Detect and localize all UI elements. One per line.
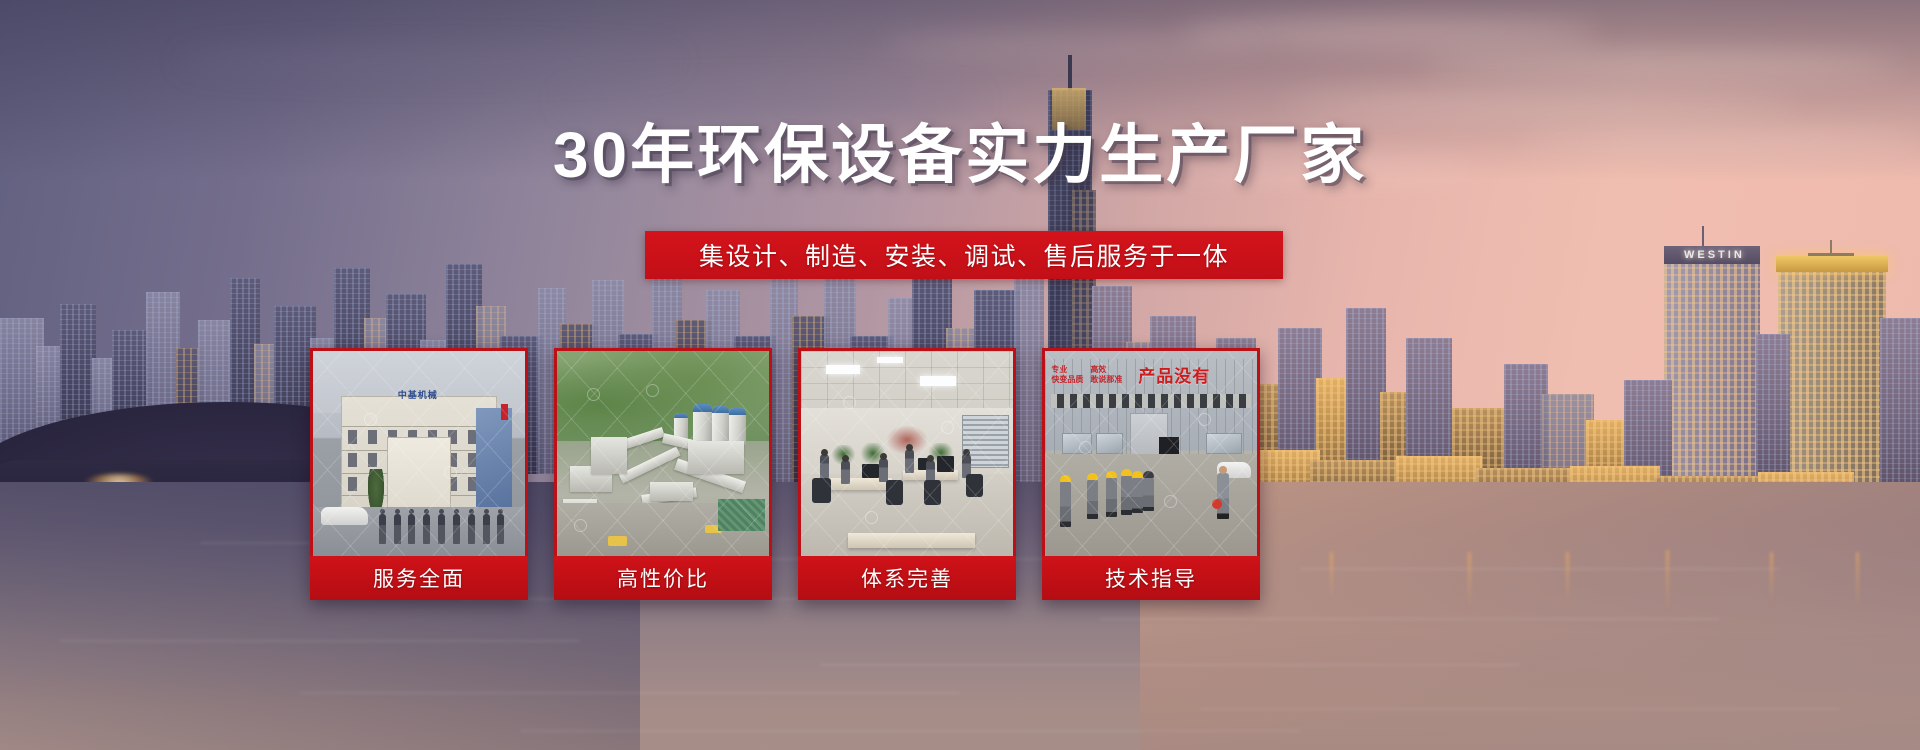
card-photo-worker-briefing: 产品没有 专业 快变品质 高效 敢说那准 [1045,351,1257,556]
page-title: 30年环保设备实力生产厂家 [0,104,1920,196]
factory-slogan-small: 专业 快变品质 高效 敢说那准 [1051,365,1132,394]
slogan-small-4: 敢说那准 [1090,375,1122,385]
feature-card-service[interactable]: 中基机械 [310,348,528,600]
gold-crown-sign [1776,256,1888,272]
factory-slogan-text: 产品没有 [1138,361,1257,388]
card-caption: 技术指导 [1042,556,1260,600]
slogan-small-1: 专业 [1051,365,1083,375]
card-caption: 高性价比 [554,556,772,600]
feature-card-row: 中基机械 [310,348,1564,600]
westin-sign-text: WESTIN [1684,249,1745,261]
subtitle-banner: 集设计、制造、安装、调试、售后服务于一体 [645,231,1283,279]
card-photo-headquarters: 中基机械 [313,351,525,556]
subtitle-text: 集设计、制造、安装、调试、售后服务于一体 [699,237,1229,273]
building-sign-text: 中基机械 [398,388,438,401]
slogan-small-2: 快变品质 [1051,375,1083,385]
feature-card-system[interactable]: 体系完善 [798,348,1016,600]
card-caption: 体系完善 [798,556,1016,600]
card-photo-plant-aerial [557,351,769,556]
card-caption: 服务全面 [310,556,528,600]
feature-card-value[interactable]: 高性价比 [554,348,772,600]
slogan-small-3: 高效 [1090,365,1122,375]
hero-banner: WESTIN [0,0,1920,750]
card-photo-office-interior [801,351,1013,556]
feature-card-guidance[interactable]: 产品没有 专业 快变品质 高效 敢说那准 [1042,348,1260,600]
